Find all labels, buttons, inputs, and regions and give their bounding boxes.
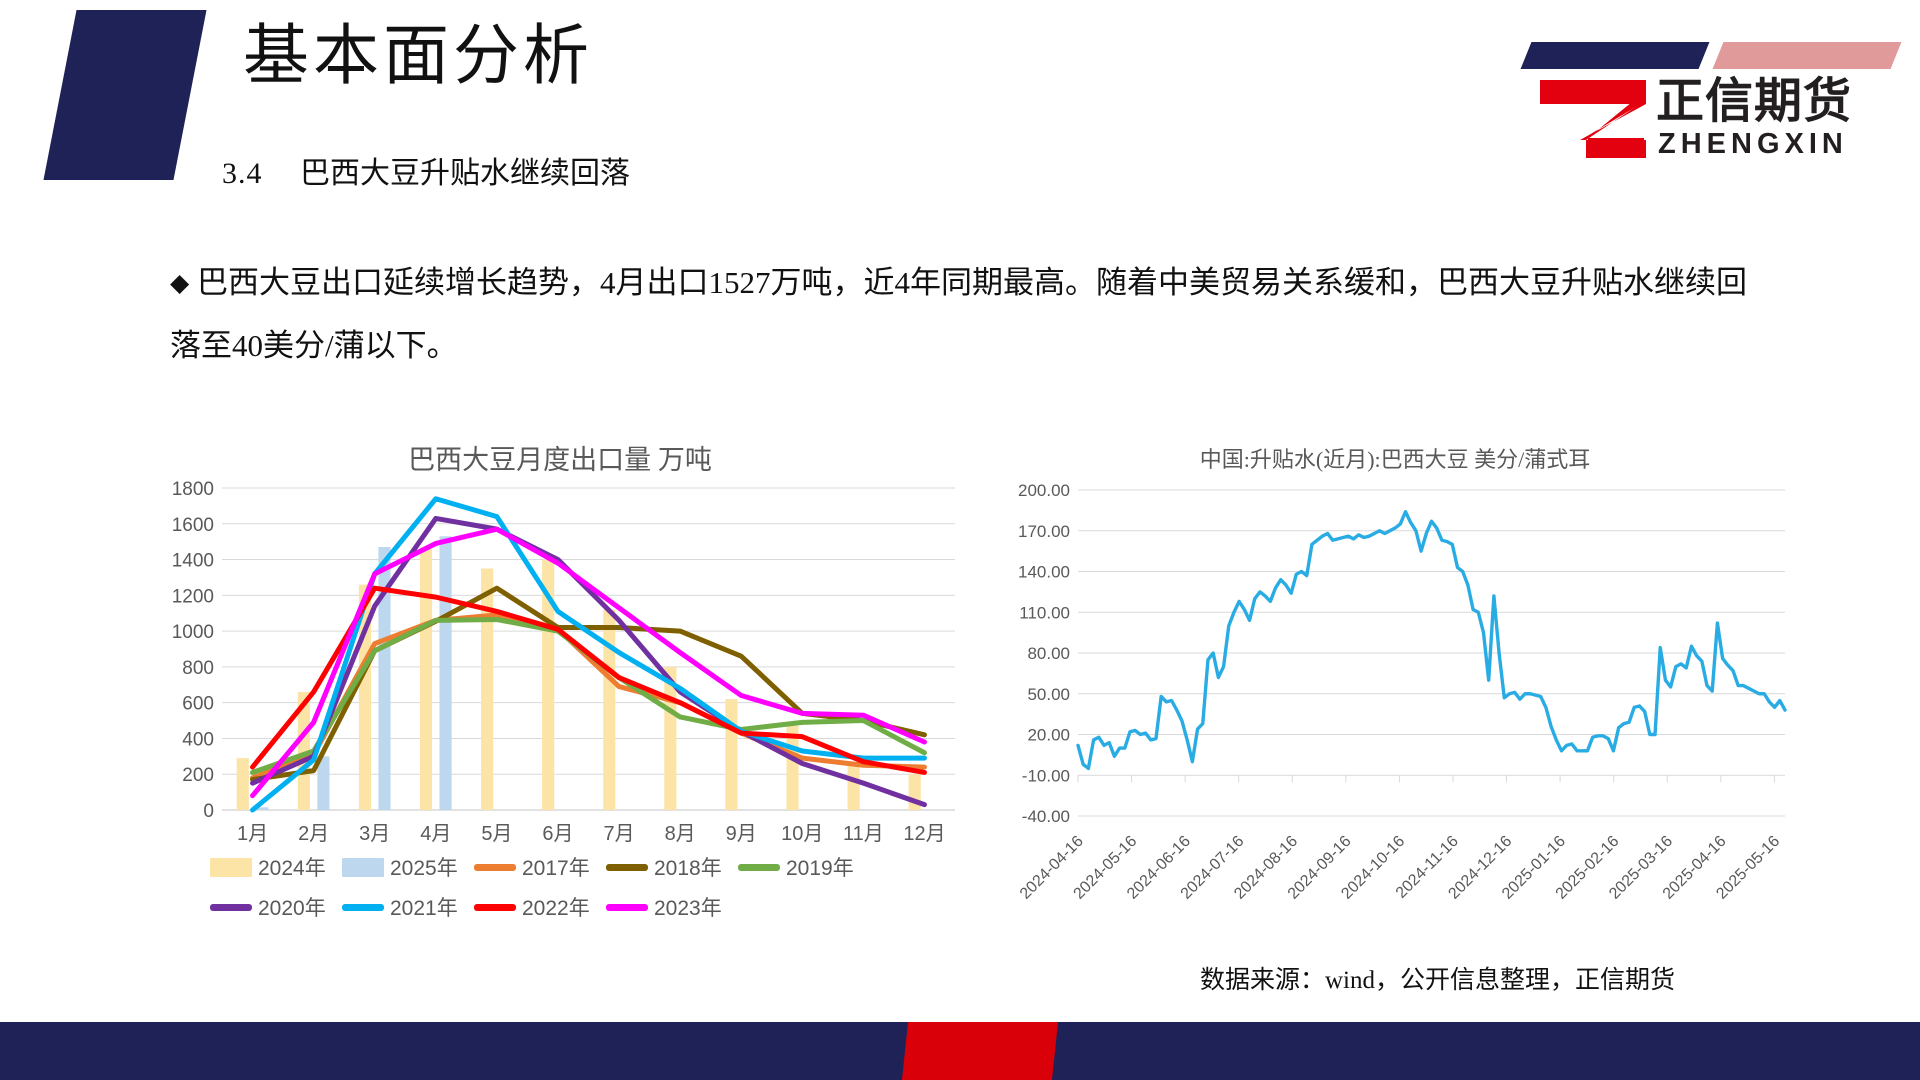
page-subtitle-text: 巴西大豆升贴水继续回落	[300, 157, 630, 190]
chart-left-title: 巴西大豆月度出口量 万吨	[160, 440, 960, 480]
svg-text:80.00: 80.00	[1027, 644, 1070, 663]
logo-navy-bar-icon	[1521, 42, 1710, 69]
svg-text:1200: 1200	[172, 586, 214, 607]
legend-label: 2023年	[654, 892, 722, 922]
footer-red-accent	[902, 1022, 1058, 1080]
svg-text:50.00: 50.00	[1027, 685, 1070, 704]
legend-swatch-icon	[474, 904, 516, 911]
logo-pink-bar-icon	[1713, 42, 1902, 69]
svg-text:1800: 1800	[172, 480, 214, 500]
svg-text:4月: 4月	[420, 823, 451, 845]
legend-swatch-icon	[342, 858, 384, 877]
legend-item-2024年: 2024年	[210, 852, 342, 882]
legend-item-2023年: 2023年	[606, 892, 738, 922]
svg-text:170.00: 170.00	[1018, 522, 1070, 541]
svg-text:1000: 1000	[172, 622, 214, 643]
svg-text:6月: 6月	[542, 823, 573, 845]
company-logo: 正信期货 ZHENGXIN	[1526, 42, 1906, 162]
legend-label: 2024年	[258, 852, 326, 882]
body-paragraph: ◆ 巴西大豆出口延续增长趋势，4月出口1527万吨，近4年同期最高。随着中美贸易…	[170, 252, 1770, 377]
svg-text:800: 800	[182, 658, 214, 679]
svg-text:2月: 2月	[298, 823, 329, 845]
svg-text:-40.00: -40.00	[1022, 807, 1070, 826]
chart-right-title: 中国:升贴水(近月):巴西大豆 美分/蒲式耳	[1000, 440, 1790, 480]
chart-left-canvas: 0200400600800100012001400160018001月2月3月4…	[160, 480, 960, 900]
chart-left-legend: 2024年2025年2017年2018年2019年2020年2021年2022年…	[210, 852, 960, 932]
svg-text:1400: 1400	[172, 551, 214, 572]
source-note: 数据来源：wind，公开信息整理，正信期货	[1200, 960, 1675, 996]
legend-swatch-icon	[606, 904, 648, 911]
svg-text:200: 200	[182, 765, 214, 786]
svg-text:600: 600	[182, 694, 214, 715]
legend-swatch-icon	[606, 864, 648, 871]
svg-text:7月: 7月	[603, 823, 634, 845]
legend-item-2020年: 2020年	[210, 892, 342, 922]
logo-name-cn: 正信期货	[1656, 78, 1852, 126]
page-subtitle-number: 3.4	[222, 157, 263, 190]
footer-bar	[0, 1022, 1920, 1080]
logo-name-en: ZHENGXIN	[1658, 130, 1848, 159]
svg-text:20.00: 20.00	[1027, 726, 1070, 745]
legend-swatch-icon	[474, 864, 516, 871]
legend-item-2019年: 2019年	[738, 852, 870, 882]
svg-text:140.00: 140.00	[1018, 563, 1070, 582]
legend-label: 2021年	[390, 892, 458, 922]
legend-swatch-icon	[738, 864, 780, 871]
svg-text:12月: 12月	[903, 823, 945, 845]
page-title: 基本面分析	[243, 24, 593, 90]
legend-item-2022年: 2022年	[474, 892, 606, 922]
chart-china-brazil-soybean-basis: 中国:升贴水(近月):巴西大豆 美分/蒲式耳 -40.00-10.0020.00…	[1000, 440, 1790, 930]
svg-text:200.00: 200.00	[1018, 481, 1070, 500]
chart-right-canvas: -40.00-10.0020.0050.0080.00110.00140.001…	[1000, 480, 1790, 930]
legend-label: 2025年	[390, 852, 458, 882]
svg-text:400: 400	[182, 729, 214, 750]
legend-item-2021年: 2021年	[342, 892, 474, 922]
bullet-diamond-icon: ◆	[170, 270, 189, 297]
legend-label: 2020年	[258, 892, 326, 922]
legend-label: 2017年	[522, 852, 590, 882]
legend-label: 2018年	[654, 852, 722, 882]
svg-text:9月: 9月	[726, 823, 757, 845]
svg-text:10月: 10月	[781, 823, 823, 845]
logo-z-mark-icon	[1540, 80, 1646, 158]
svg-text:0: 0	[203, 801, 214, 822]
legend-swatch-icon	[342, 904, 384, 911]
legend-item-2017年: 2017年	[474, 852, 606, 882]
legend-label: 2019年	[786, 852, 854, 882]
svg-text:8月: 8月	[665, 823, 696, 845]
legend-item-2018年: 2018年	[606, 852, 738, 882]
svg-text:-10.00: -10.00	[1022, 766, 1070, 785]
legend-swatch-icon	[210, 858, 252, 877]
legend-swatch-icon	[210, 904, 252, 911]
svg-text:110.00: 110.00	[1019, 603, 1070, 622]
page-subtitle: 3.4 巴西大豆升贴水继续回落	[222, 148, 630, 192]
svg-text:3月: 3月	[359, 823, 390, 845]
legend-label: 2022年	[522, 892, 590, 922]
legend-item-2025年: 2025年	[342, 852, 474, 882]
body-paragraph-text: 巴西大豆出口延续增长趋势，4月出口1527万吨，近4年同期最高。随着中美贸易关系…	[170, 265, 1747, 363]
svg-text:1月: 1月	[237, 823, 268, 845]
svg-text:11月: 11月	[843, 823, 884, 845]
svg-text:1600: 1600	[172, 515, 214, 536]
svg-text:5月: 5月	[481, 823, 512, 845]
header-accent-bar	[43, 10, 206, 180]
